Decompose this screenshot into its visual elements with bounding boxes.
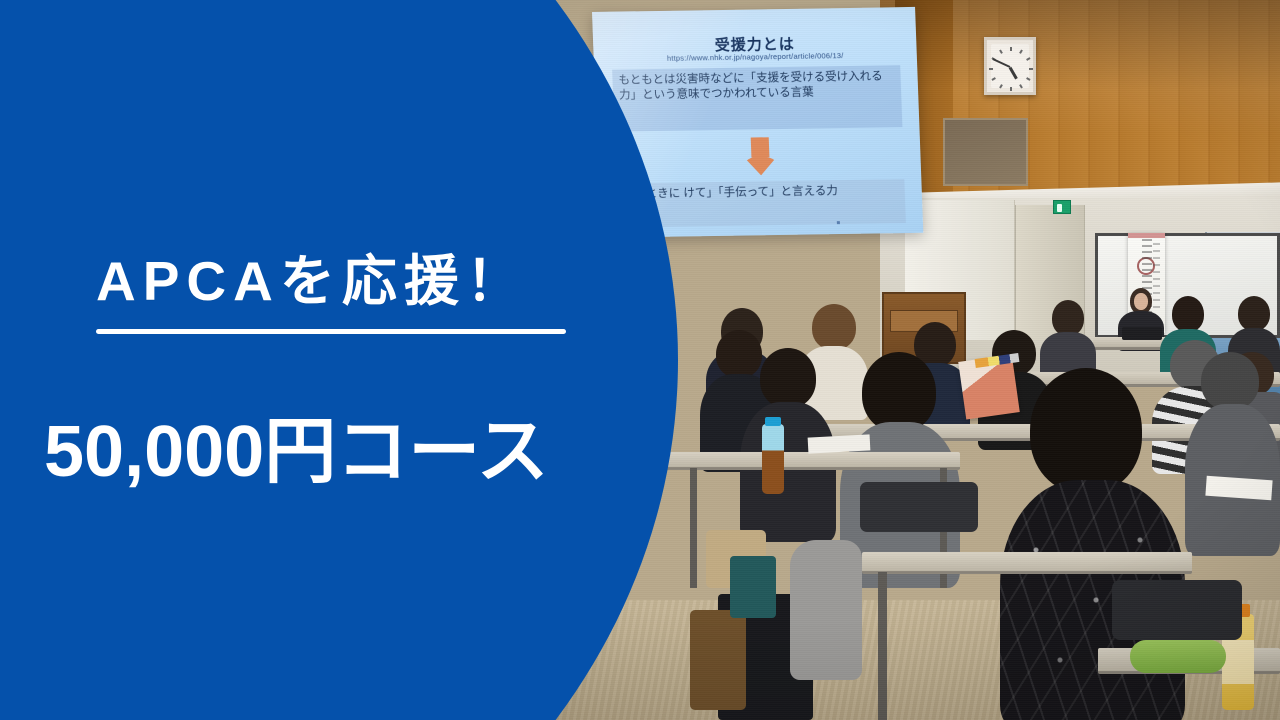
clock-minute-hand <box>992 58 1010 68</box>
presenter-laptop <box>1122 327 1162 340</box>
green-pouch <box>1130 640 1226 673</box>
audience-desk <box>660 452 960 470</box>
foreground-desk <box>862 552 1192 574</box>
subline-amount: 50,000円コース <box>44 392 549 497</box>
clock-hour-hand <box>1009 67 1018 80</box>
leather-bag <box>690 610 746 710</box>
divider-rule <box>96 329 566 334</box>
desk-leg <box>690 468 697 588</box>
audience-member-right <box>1185 352 1280 552</box>
chair-back <box>860 482 978 532</box>
bottle-label <box>1222 640 1254 684</box>
slide-bullet-dot <box>837 221 840 224</box>
text-block: APCAを応援！ 50,000円コース <box>0 0 660 720</box>
emergency-exit-icon <box>1053 200 1071 214</box>
wall-recess-panel <box>943 118 1028 186</box>
bottle-cap <box>765 417 781 426</box>
teal-bag <box>730 556 776 618</box>
desk-leg <box>878 572 887 720</box>
headline: APCAを応援！ <box>96 236 528 316</box>
clock-face <box>991 44 1029 88</box>
wall-clock-icon <box>984 37 1036 95</box>
water-bottle <box>762 424 784 494</box>
poster-canvas: 受援力とは https://www.nhk.or.jp/nagoya/repor… <box>0 0 1280 720</box>
coat-on-chair <box>790 540 862 680</box>
paper-sheet <box>808 434 871 453</box>
chair-back <box>1112 580 1242 640</box>
